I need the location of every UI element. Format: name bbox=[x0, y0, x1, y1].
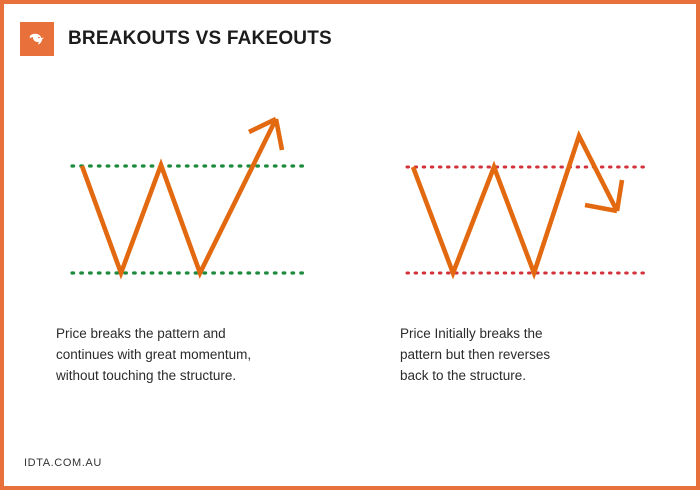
infographic-canvas: BREAKOUTS VS FAKEOUTS bbox=[0, 0, 700, 490]
caption-line: back to the structure. bbox=[400, 366, 635, 387]
caption-breakout: Price breaks the pattern and continues w… bbox=[56, 324, 301, 387]
price-path-breakout bbox=[82, 119, 276, 273]
footer-brand: IDTA.COM.AU bbox=[24, 457, 102, 469]
chart-fakeout bbox=[389, 99, 679, 294]
caption-line: Price breaks the pattern and bbox=[56, 324, 301, 345]
brand-logo bbox=[20, 22, 54, 56]
chart-breakout bbox=[44, 99, 334, 294]
caption-line: without touching the structure. bbox=[56, 366, 301, 387]
caption-line: continues with great momentum, bbox=[56, 345, 301, 366]
header: BREAKOUTS VS FAKEOUTS bbox=[20, 22, 332, 56]
caption-line: pattern but then reverses bbox=[400, 345, 635, 366]
page-title: BREAKOUTS VS FAKEOUTS bbox=[68, 28, 332, 50]
caption-fakeout: Price Initially breaks the pattern but t… bbox=[400, 324, 635, 387]
caption-line: Price Initially breaks the bbox=[400, 324, 635, 345]
eagle-head-icon bbox=[26, 28, 48, 50]
